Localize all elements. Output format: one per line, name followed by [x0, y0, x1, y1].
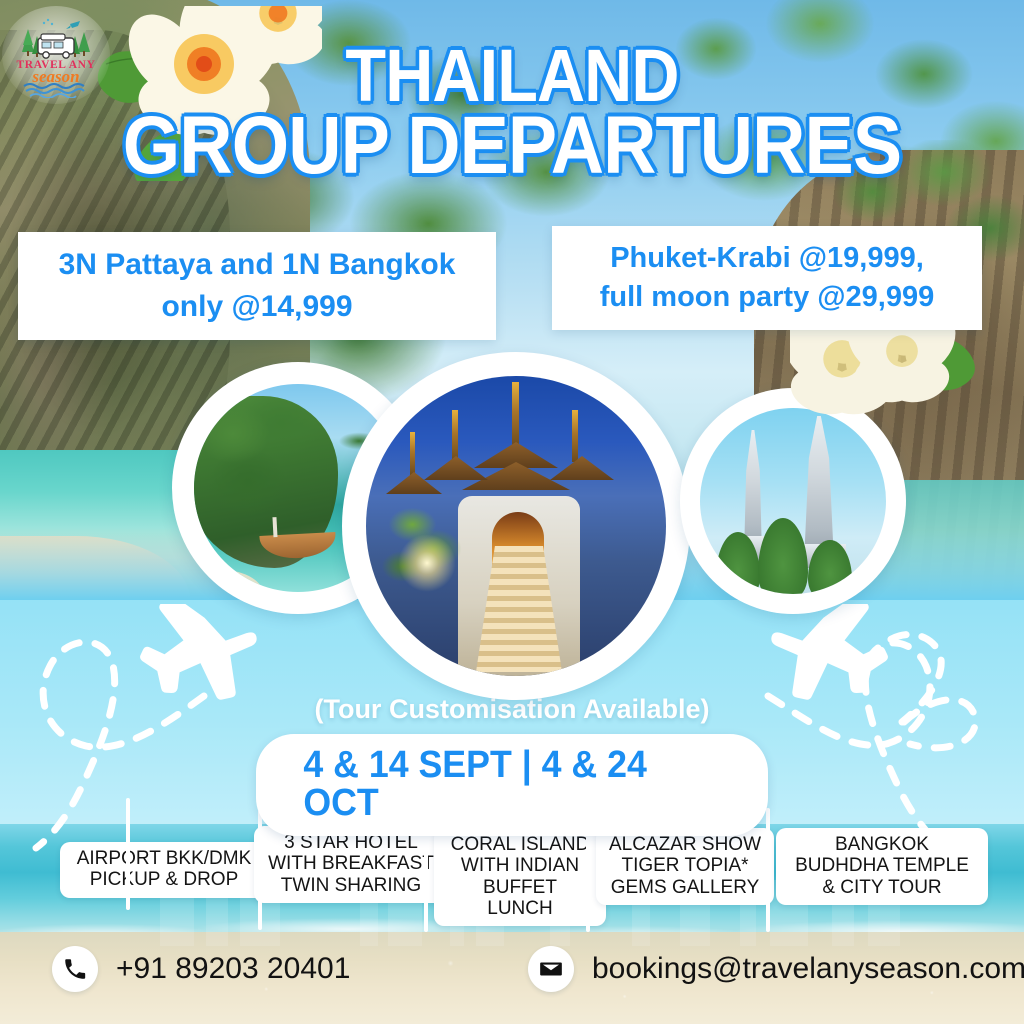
feature-line: & CITY TOUR [788, 877, 976, 898]
feature-line: WITH INDIAN [446, 855, 594, 876]
temple-spire-far-left [410, 432, 415, 476]
feature-divider-1 [126, 798, 130, 910]
feature-divider-2 [258, 810, 262, 930]
email-address: bookings@travelanyseason.com [592, 952, 1024, 986]
feature-box-city-tour[interactable]: BANGKOK BUDHDHA TEMPLE & CITY TOUR [776, 828, 988, 905]
departure-dates-text: 4 & 14 SEPT | 4 & 24 OCT [303, 746, 720, 822]
phone-number: +91 89203 20401 [116, 952, 350, 986]
contact-bar: +91 89203 20401 bookings@travelanyseason… [0, 946, 1024, 1006]
feature-line: BANGKOK [788, 834, 976, 855]
photo-circle-thai-temple [342, 352, 690, 700]
poster-canvas: TRAVEL ANY season [0, 0, 1024, 1024]
feature-box-airport-transfer[interactable]: AIRPORT BKK/DMK PICKUP & DROP [60, 842, 268, 898]
temple-spire-right [572, 410, 578, 462]
feature-line: ALCAZAR SHOW [608, 834, 762, 855]
feature-line: CORAL ISLAND [446, 834, 594, 855]
offer-badge-line-1: Phuket-Krabi @19,999, [552, 226, 982, 279]
temple-spire-center [512, 382, 519, 448]
temple-roof-right [550, 456, 614, 480]
poster-title: THAILAND GROUP DEPARTURES [0, 42, 1024, 184]
departure-dates-pill[interactable]: 4 & 14 SEPT | 4 & 24 OCT [256, 734, 768, 836]
offer-badge-line-2: full moon party @29,999 [552, 279, 982, 330]
feature-line: AIRPORT BKK/DMK [72, 848, 256, 869]
beach-sand-shape [194, 570, 264, 592]
contact-email[interactable]: bookings@travelanyseason.com [528, 946, 1024, 992]
feature-line: GEMS GALLERY [608, 877, 762, 898]
feature-line: TWIN SHARING [266, 875, 436, 896]
offer-badge-pattaya-bangkok[interactable]: 3N Pattaya and 1N Bangkok only @14,999 [18, 232, 496, 340]
offer-badge-phuket-krabi[interactable]: Phuket-Krabi @19,999, full moon party @2… [552, 226, 982, 330]
temple-light-glow [398, 534, 456, 592]
feature-line: BUFFET [446, 877, 594, 898]
offer-badge-line-1: 3N Pattaya and 1N Bangkok [18, 232, 496, 288]
feature-line: LUNCH [446, 898, 594, 919]
offer-badge-line-2: only @14,999 [89, 288, 425, 340]
frangipani-flower-right [790, 318, 990, 443]
wat-arun-bush-2 [758, 518, 808, 594]
feature-box-shows[interactable]: ALCAZAR SHOW TIGER TOPIA* GEMS GALLERY [596, 828, 774, 905]
temple-spire-left [452, 410, 458, 462]
phone-icon [52, 946, 98, 992]
title-line-2: GROUP DEPARTURES [51, 108, 973, 183]
feature-box-hotel[interactable]: 3 STAR HOTEL WITH BREAKFAST TWIN SHARING [254, 826, 448, 903]
feature-line: WITH BREAKFAST [266, 853, 436, 874]
feature-box-coral-island[interactable]: CORAL ISLAND WITH INDIAN BUFFET LUNCH [434, 828, 606, 926]
contact-phone[interactable]: +91 89203 20401 [52, 946, 350, 992]
inclusions-row: AIRPORT BKK/DMK PICKUP & DROP 3 STAR HOT… [0, 820, 1024, 930]
envelope-icon [528, 946, 574, 992]
feature-line: TIGER TOPIA* [608, 855, 762, 876]
photo-thai-temple-night [366, 376, 666, 676]
temple-roof-left [424, 456, 488, 480]
feature-divider-5 [766, 808, 770, 932]
feature-line: BUDHDHA TEMPLE [788, 855, 976, 876]
feature-line: PICKUP & DROP [72, 869, 256, 890]
